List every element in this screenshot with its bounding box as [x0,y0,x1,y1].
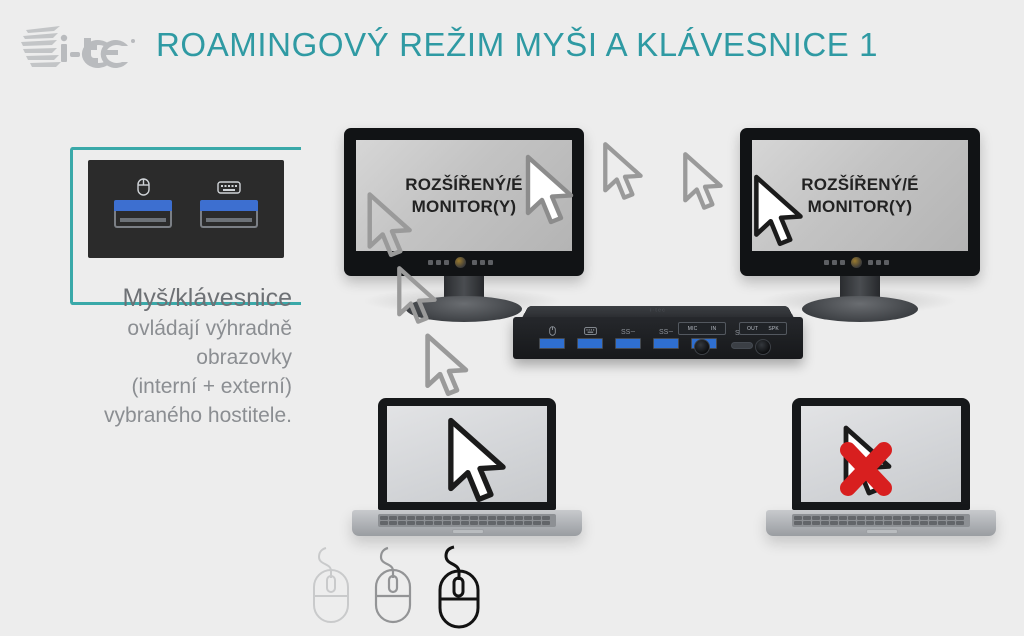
laptop-trackpad[interactable] [452,529,484,534]
infographic-canvas: ROAMINGOVÝ REŽIM MYŠI A KLÁVESNICE 1 [0,0,1024,636]
usb-port-mouse[interactable] [112,176,174,228]
mouse-icon [112,176,174,198]
docking-station[interactable]: i-tec SS⟶ [513,303,803,363]
audio-out-jack[interactable]: OUT SPK [739,322,787,355]
usb-ss-icon: SS⟶ [653,325,679,336]
cursor-outline-5 [424,334,474,400]
usb-a-port [577,338,603,349]
page-title: ROAMINGOVÝ REŽIM MYŠI A KLÁVESNICE 1 [156,26,878,64]
usb-a-connector [200,202,258,228]
cursor-filled-left-monitor [524,155,580,229]
usb-ss-icon: SS⟶ [615,325,641,336]
laptop-keyboard[interactable] [792,514,970,527]
audio-in-label-plate: MIC IN [678,322,726,335]
audio-out-label-right: SPK [768,326,779,332]
left-caption: Myš/klávesnice ovládají výhradně obrazov… [10,282,298,430]
caption-line-4: vybraného hostitele. [10,401,298,430]
usb-a-port [653,338,679,349]
mouse-icon [539,325,565,336]
cursor-outline-1 [366,192,418,262]
power-led [851,257,862,268]
header: ROAMINGOVÝ REŽIM MYŠI A KLÁVESNICE 1 [0,0,1024,92]
monitor-indicator-leds [824,256,889,269]
caption-line-3: (interní + externí) [10,372,298,401]
audio-out-label-left: OUT [747,326,758,332]
usb-port-panel [88,160,284,258]
audio-in-label-left: MIC [688,326,698,332]
audio-jack-hole [755,339,771,355]
usb-a-port [539,338,565,349]
itec-logo [14,22,138,74]
cursor-filled-right-monitor [752,175,810,251]
audio-in-jack[interactable]: MIC IN [678,322,726,355]
dock-port-usb3-1[interactable]: SS⟶ [615,325,641,349]
dock-port-mouse[interactable] [539,325,565,349]
mouse-outline-1 [305,545,357,632]
logo-arrow-icon [21,26,61,67]
monitor-label: ROZŠÍŘENÝ/É MONITOR(Y) [405,174,522,218]
power-led [455,257,466,268]
monitor-label: ROZŠÍŘENÝ/É MONITOR(Y) [801,174,918,218]
audio-jack-hole [694,339,710,355]
laptop-keyboard[interactable] [378,514,556,527]
dock-port-keyboard[interactable] [577,325,603,349]
mouse-outline-3-active [431,545,487,636]
dock-front-panel: SS⟶ SS⟶ SS⟶ [513,317,803,359]
audio-in-label-right: IN [711,326,716,332]
caption-line-2: obrazovky [10,343,298,372]
logo-wordmark [61,35,135,68]
mouse-outline-2 [367,545,419,632]
svg-text:SS⟶: SS⟶ [621,329,635,335]
mouse-roaming-sequence [305,545,495,631]
dock-port-usb3-2[interactable]: SS⟶ [653,325,679,349]
monitor-base [802,296,918,322]
svg-text:SS⟶: SS⟶ [659,329,673,335]
keyboard-icon [198,176,260,198]
audio-out-label-plate: OUT SPK [739,322,787,335]
usb-port-keyboard[interactable] [198,176,260,228]
usb-a-port [615,338,641,349]
keyboard-icon [577,325,603,336]
cursor-filled-active-laptop [446,418,514,508]
caption-line-1: ovládají výhradně [10,314,298,343]
cursor-outline-4 [396,266,442,328]
caption-strong: Myš/klávesnice [10,282,298,314]
cursor-outline-2 [602,142,648,204]
cursor-outline-3 [682,152,728,214]
cursor-blocked-icon [838,424,902,508]
usb-a-connector [114,202,172,228]
dock-audio-row: MIC IN OUT SPK [678,322,787,355]
laptop-trackpad[interactable] [866,529,898,534]
dock-brand-label: i-tec [650,308,666,313]
